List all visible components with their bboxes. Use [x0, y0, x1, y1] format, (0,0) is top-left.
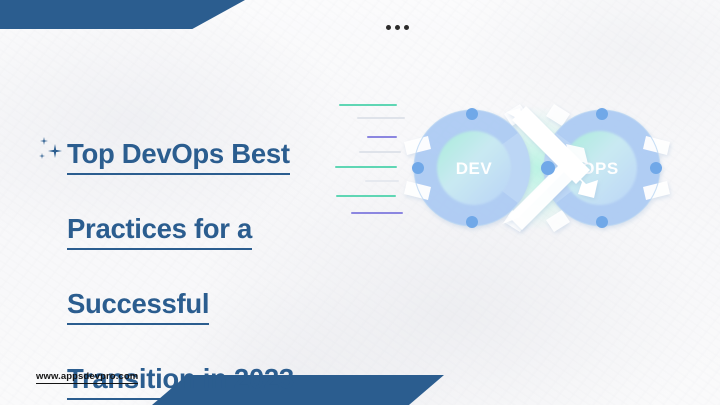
- dev-node-dot: [412, 162, 424, 174]
- ops-node-dot: [650, 162, 662, 174]
- dev-label: DEV: [456, 159, 493, 178]
- menu-dot: [395, 25, 400, 30]
- menu-dot: [404, 25, 409, 30]
- dev-node-dot: [466, 216, 478, 228]
- presentation-slide: Top DevOps Best Practices for a Successf…: [0, 0, 720, 405]
- dev-node-dot: [466, 108, 478, 120]
- ops-node-dot: [596, 108, 608, 120]
- title-line-1: Top DevOps Best: [67, 136, 290, 175]
- sparkle-small-icon: [39, 153, 45, 159]
- page-title: Top DevOps Best Practices for a Successf…: [67, 100, 337, 405]
- sparkle-large-icon: [48, 144, 62, 158]
- center-node-dot: [541, 161, 555, 175]
- devops-infinity-graphic: DEV OPS: [378, 76, 696, 256]
- site-url[interactable]: www.appsdevpro.com: [36, 371, 138, 384]
- title-line-3: Successful: [67, 286, 209, 325]
- top-banner-shape: [0, 0, 245, 29]
- menu-dots-icon: [386, 25, 409, 30]
- menu-dot: [386, 25, 391, 30]
- title-line-2: Practices for a: [67, 211, 252, 250]
- ops-node-dot: [596, 216, 608, 228]
- sparkle-medium-icon: [40, 137, 48, 145]
- title-block: Top DevOps Best Practices for a Successf…: [67, 100, 337, 405]
